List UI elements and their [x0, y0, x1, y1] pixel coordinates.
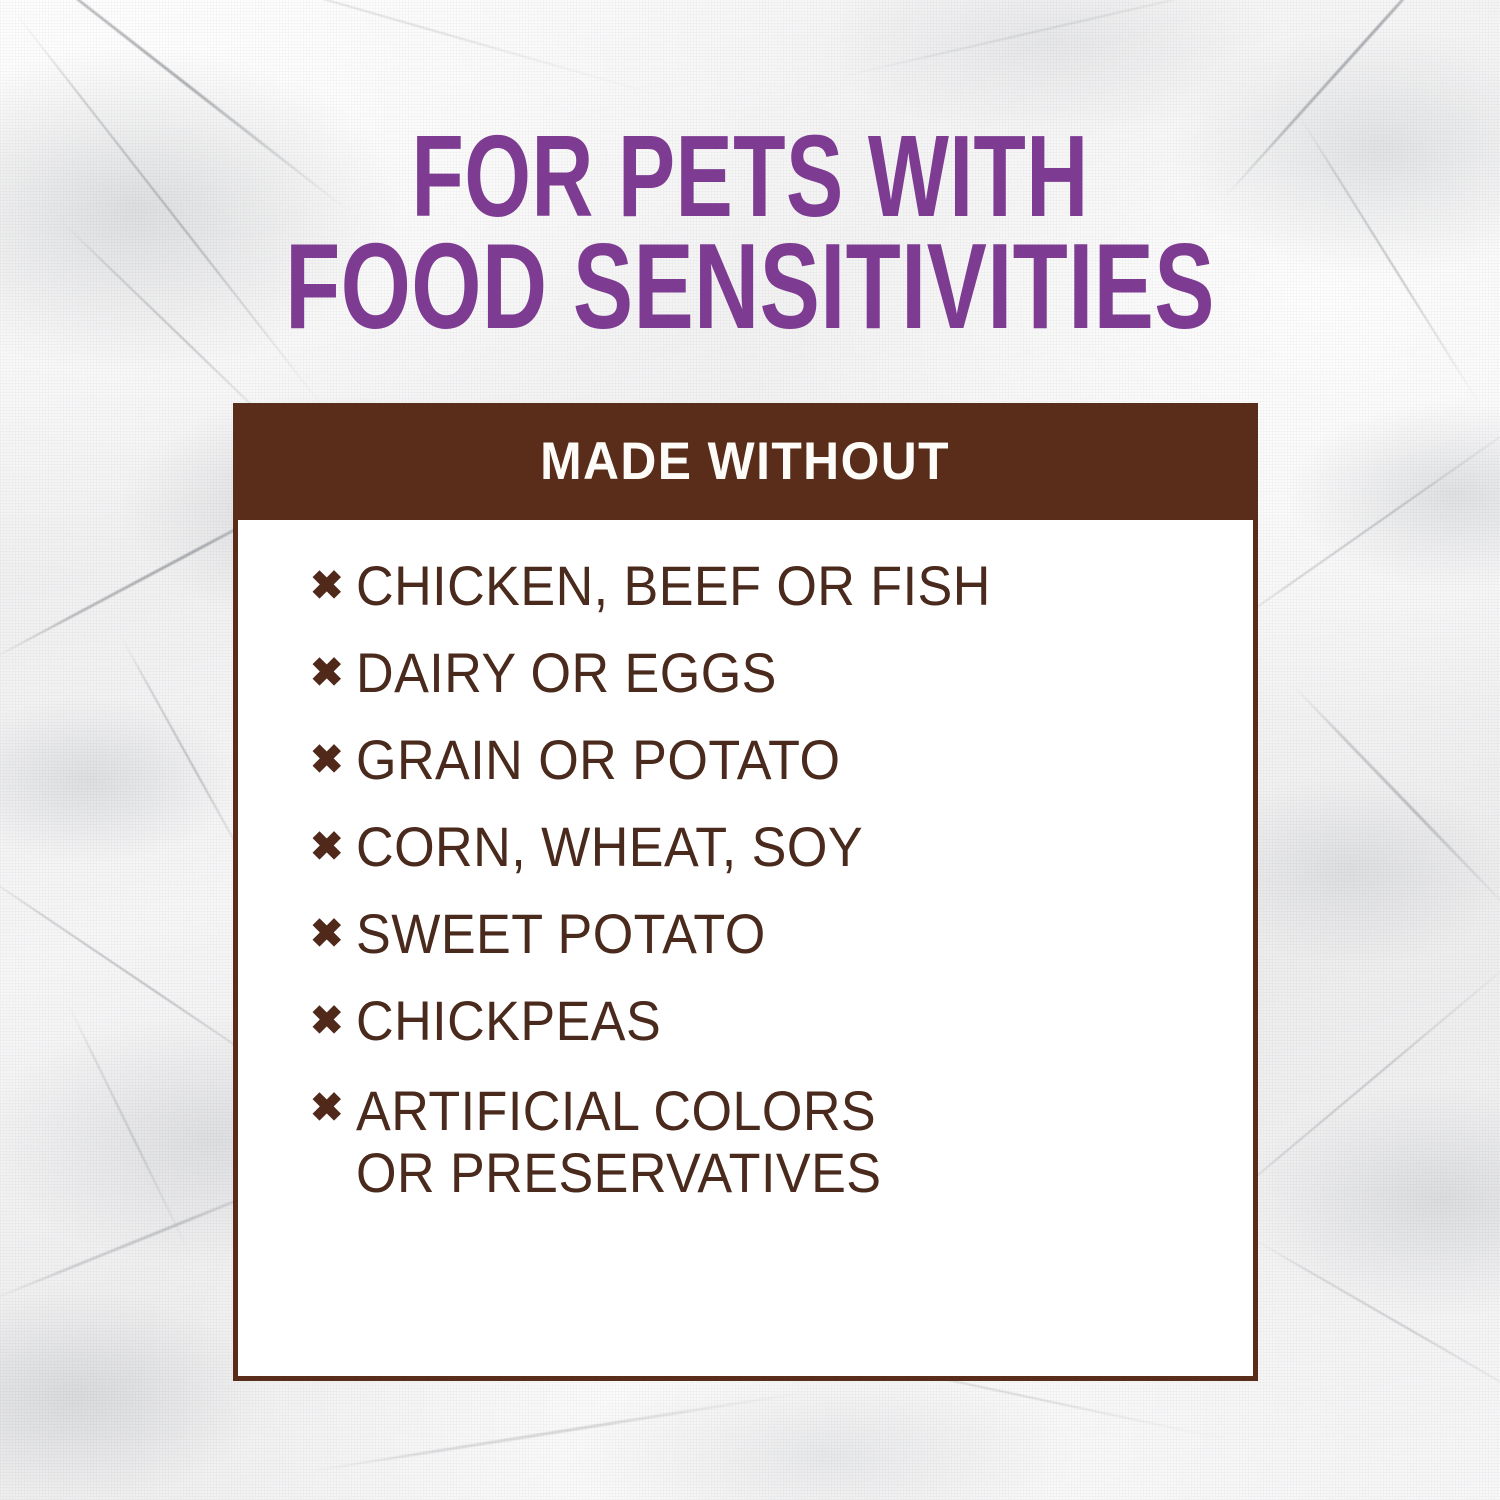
- x-mark-icon: ✖: [310, 819, 356, 875]
- made-without-list: ✖ CHICKEN, BEEF OR FISH ✖ DAIRY OR EGGS …: [310, 558, 1213, 1204]
- card-header-bar: MADE WITHOUT: [233, 403, 1258, 520]
- list-item: ✖ SWEET POTATO: [310, 906, 1213, 962]
- list-item-label: CHICKPEAS: [356, 993, 661, 1049]
- x-mark-icon: ✖: [310, 993, 356, 1049]
- list-item-label: DAIRY OR EGGS: [356, 645, 777, 701]
- card-body: ✖ CHICKEN, BEEF OR FISH ✖ DAIRY OR EGGS …: [233, 520, 1258, 1381]
- list-item-label: GRAIN OR POTATO: [356, 732, 840, 788]
- list-item-label: CHICKEN, BEEF OR FISH: [356, 558, 991, 614]
- card-header-title: MADE WITHOUT: [541, 431, 951, 492]
- x-mark-icon: ✖: [310, 1080, 356, 1136]
- x-mark-icon: ✖: [310, 906, 356, 962]
- list-item: ✖ CORN, WHEAT, SOY: [310, 819, 1213, 875]
- page-title-line-1: FOR PETS WITH: [195, 120, 1305, 233]
- list-item-label: CORN, WHEAT, SOY: [356, 819, 863, 875]
- list-item: ✖ CHICKEN, BEEF OR FISH: [310, 558, 1213, 614]
- made-without-card: MADE WITHOUT ✖ CHICKEN, BEEF OR FISH ✖ D…: [233, 403, 1258, 1381]
- list-item: ✖ GRAIN OR POTATO: [310, 732, 1213, 788]
- page-title-line-2: FOOD SENSITIVITIES: [195, 227, 1305, 345]
- list-item: ✖ CHICKPEAS: [310, 993, 1213, 1049]
- list-item: ✖ ARTIFICIAL COLORS OR PRESERVATIVES: [310, 1080, 1213, 1204]
- x-mark-icon: ✖: [310, 645, 356, 701]
- list-item-label: SWEET POTATO: [356, 906, 766, 962]
- x-mark-icon: ✖: [310, 558, 356, 614]
- x-mark-icon: ✖: [310, 732, 356, 788]
- poster-canvas: FOR PETS WITH FOOD SENSITIVITIES MADE WI…: [0, 0, 1500, 1500]
- list-item: ✖ DAIRY OR EGGS: [310, 645, 1213, 701]
- list-item-label: ARTIFICIAL COLORS OR PRESERVATIVES: [356, 1080, 881, 1204]
- page-title: FOR PETS WITH FOOD SENSITIVITIES: [0, 120, 1500, 345]
